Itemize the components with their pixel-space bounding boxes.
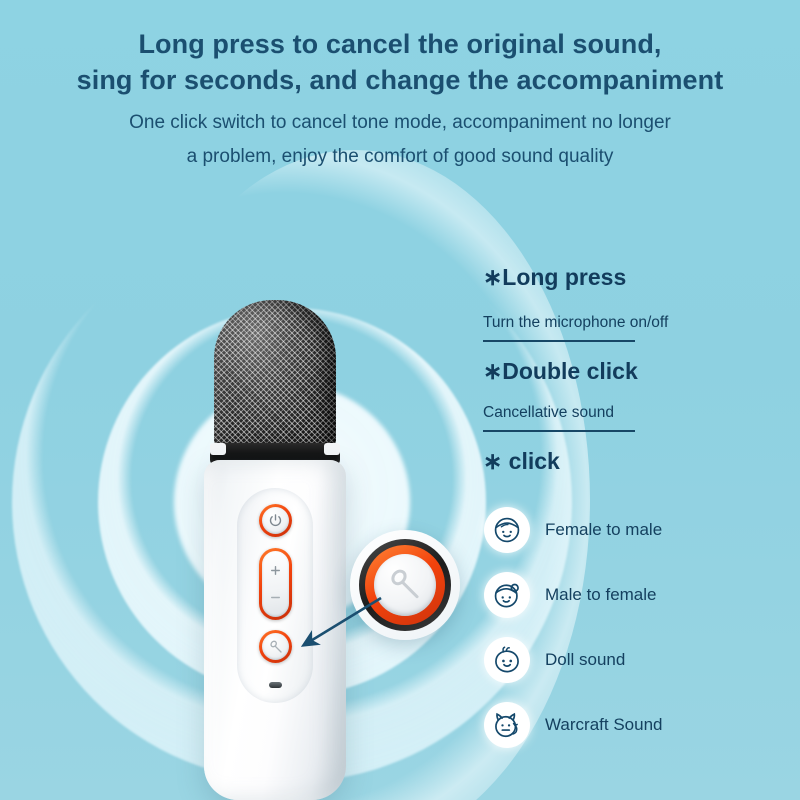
voice-mode-label-female-to-male: Female to male [545,520,662,540]
voice-mode-row-female-to-male[interactable]: Female to male [484,497,784,562]
microphone-grille [214,300,336,448]
power-icon [262,507,289,534]
infographic-page: Long press to cancel the original sound,… [0,0,800,800]
voice-mode-row-male-to-female[interactable]: Male to female [484,562,784,627]
led-indicator [269,682,282,688]
subheadline-line-2: a problem, enjoy the comfort of good sou… [0,140,800,174]
devil-face-icon [484,702,530,748]
headline-line-2: sing for seconds, and change the accompa… [0,62,800,98]
header-block: Long press to cancel the original sound,… [0,0,800,174]
callout-divider-1 [483,340,635,342]
voice-mode-label-male-to-female: Male to female [545,585,657,605]
callout-desc-double-click: Cancellative sound [483,402,614,429]
callout-list: ∗Long press Turn the microphone on/off ∗… [483,262,783,476]
volume-up-icon [269,564,282,577]
voice-mode-label-warcraft-sound: Warcraft Sound [545,715,662,735]
callout-action-click: ∗ click [483,446,783,476]
voice-mode-label-doll-sound: Doll sound [545,650,625,670]
voice-mode-list: Female to male Male to female [484,497,784,757]
baby-face-icon [484,637,530,683]
arrow-icon [280,590,390,670]
voice-mode-row-warcraft-sound[interactable]: Warcraft Sound [484,692,784,757]
male-face-icon [484,507,530,553]
callout-action-long-press: ∗Long press [483,262,783,292]
callout-desc-long-press: Turn the microphone on/off [483,312,668,339]
female-face-icon [484,572,530,618]
headline-line-1: Long press to cancel the original sound, [0,26,800,62]
callout-action-double-click: ∗Double click [483,356,783,386]
callout-divider-2 [483,430,635,432]
pointer-arrow [280,590,390,670]
subheadline-line-1: One click switch to cancel tone mode, ac… [0,106,800,140]
microphone-illustration [196,300,376,800]
voice-mode-row-doll-sound[interactable]: Doll sound [484,627,784,692]
power-button[interactable] [259,504,292,537]
